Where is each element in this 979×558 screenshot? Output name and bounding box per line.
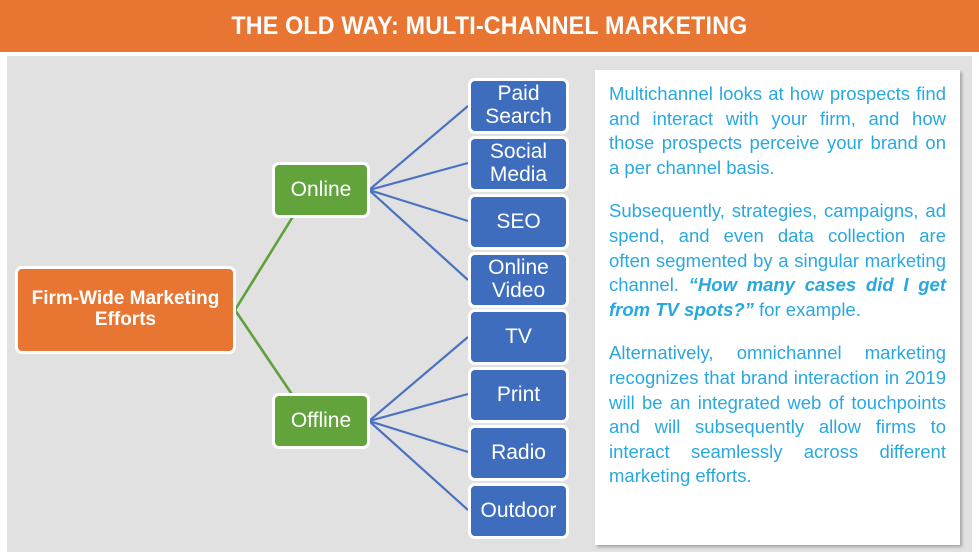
- node-radio[interactable]: Radio: [468, 425, 569, 481]
- edge-online-paid-search: [369, 106, 468, 190]
- node-offline[interactable]: Offline: [272, 393, 370, 449]
- edge-offline-print: [369, 394, 468, 421]
- edges-root-to-branch: [235, 189, 310, 421]
- edge-offline-tv: [369, 337, 468, 421]
- header-banner: THE OLD WAY: MULTI-CHANNEL MARKETING: [0, 0, 979, 52]
- node-label: Social Media: [471, 141, 566, 186]
- node-label: Outdoor: [471, 500, 566, 523]
- edges-offline-to-leaves: [369, 337, 468, 510]
- paragraph-multichannel-definition: Multichannel looks at how prospects find…: [609, 82, 946, 180]
- node-paid-search[interactable]: Paid Search: [468, 78, 569, 134]
- node-label: SEO: [471, 211, 566, 234]
- paragraph-segmented-channels: Subsequently, strategies, campaigns, ad …: [609, 199, 946, 322]
- node-online-video[interactable]: Online Video: [468, 252, 569, 308]
- node-seo[interactable]: SEO: [468, 194, 569, 250]
- slide-root: THE OLD WAY: MULTI-CHANNEL MARKETING: [0, 0, 979, 558]
- paragraph-text-after-quote: for example.: [754, 299, 861, 320]
- node-tv[interactable]: TV: [468, 309, 569, 365]
- node-social-media[interactable]: Social Media: [468, 136, 569, 192]
- node-label: Print: [471, 384, 566, 407]
- edges-online-to-leaves: [369, 106, 468, 280]
- page-title: THE OLD WAY: MULTI-CHANNEL MARKETING: [231, 12, 747, 41]
- paragraph-omnichannel-alternative: Alternatively, omnichannel marketing rec…: [609, 341, 946, 489]
- edge-offline-radio: [369, 421, 468, 452]
- node-label: TV: [471, 326, 566, 349]
- node-online[interactable]: Online: [272, 162, 370, 218]
- edge-online-seo: [369, 190, 468, 221]
- node-firm-wide-marketing-efforts[interactable]: Firm-Wide Marketing Efforts: [15, 266, 236, 354]
- diagram-canvas: Firm-Wide Marketing Efforts Online Offli…: [7, 56, 972, 552]
- edge-online-social-media: [369, 163, 468, 190]
- node-label: Online: [275, 179, 367, 202]
- node-label: Radio: [471, 442, 566, 465]
- node-label: Online Video: [471, 257, 566, 302]
- edge-offline-outdoor: [369, 421, 468, 510]
- description-panel: Multichannel looks at how prospects find…: [595, 70, 960, 545]
- node-print[interactable]: Print: [468, 367, 569, 423]
- node-outdoor[interactable]: Outdoor: [468, 483, 569, 539]
- edge-online-online-video: [369, 190, 468, 280]
- node-label: Offline: [275, 410, 367, 433]
- node-label: Paid Search: [471, 83, 566, 128]
- node-label: Firm-Wide Marketing Efforts: [24, 289, 227, 330]
